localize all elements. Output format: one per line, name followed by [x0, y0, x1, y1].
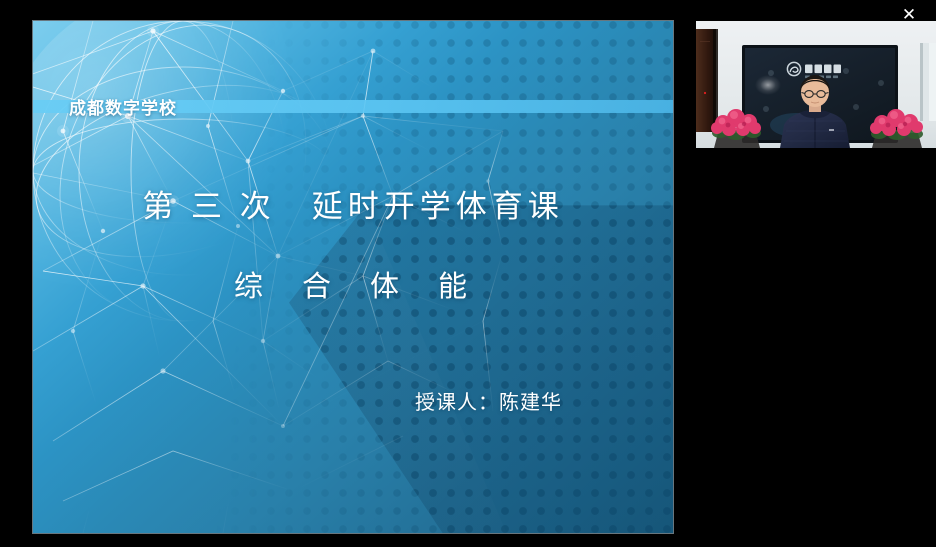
slide-title: 第 三 次 延时开学体育课	[142, 181, 564, 226]
presentation-slide[interactable]: 成都数字学校 第 三 次 延时开学体育课 综 合 体 能 授课人：陈建华	[33, 21, 673, 533]
screen-root: 成都数字学校 第 三 次 延时开学体育课 综 合 体 能 授课人：陈建华	[0, 0, 936, 547]
slide-school-name: 成都数字学校	[69, 94, 177, 119]
slide-subtitle: 综 合 体 能	[234, 263, 472, 305]
webcam-video-pane[interactable]	[696, 21, 936, 148]
close-icon[interactable]: ✕	[897, 3, 921, 27]
slide-presenter-name: 授课人：陈建华	[415, 386, 562, 415]
webcam-video-frame	[696, 21, 936, 148]
